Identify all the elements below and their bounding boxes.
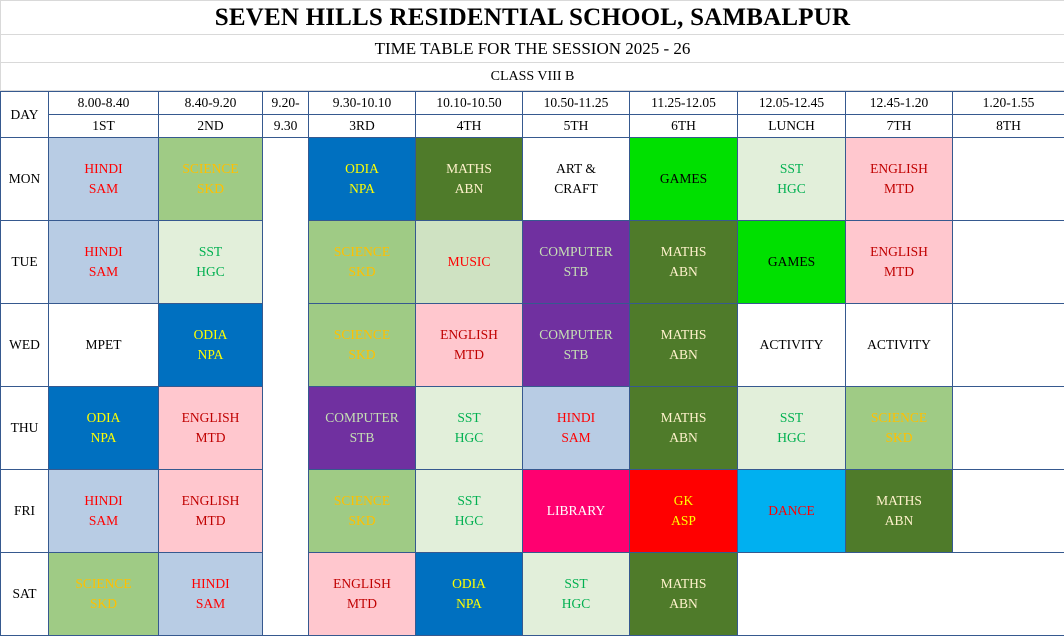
subject-name: HINDI [159,574,262,594]
title-block: SEVEN HILLS RESIDENTIAL SCHOOL, SAMBALPU… [0,0,1064,91]
subject-name: SCIENCE [309,325,415,345]
period-cell[interactable]: MUSIC [416,221,523,304]
period-cell[interactable]: MATHSABN [630,553,738,636]
subject-name: ODIA [309,159,415,179]
period-cell[interactable]: MATHSABN [630,304,738,387]
subject-name: MATHS [630,408,737,428]
teacher-code: NPA [159,345,262,365]
teacher-code: MTD [309,594,415,614]
subject-name: MATHS [630,574,737,594]
teacher-code: SKD [846,428,952,448]
subject-name: ART & [523,159,629,179]
subject-name: GK [630,491,737,511]
subject-name: SST [738,408,845,428]
subject-name: ODIA [416,574,522,594]
period-cell[interactable]: COMPUTERSTB [523,221,630,304]
column-header-period: LUNCH [738,115,846,138]
column-header-time: 8.40-9.20 [159,92,263,115]
column-header-time: 10.50-11.25 [523,92,630,115]
column-header-break-time: 9.30 [263,115,309,138]
period-cell[interactable]: ACTIVITY [738,304,846,387]
teacher-code: CRAFT [523,179,629,199]
teacher-code: ASP [630,511,737,531]
subject-name: SCIENCE [309,491,415,511]
period-cell[interactable]: HINDISAM [523,387,630,470]
subject-name: ODIA [49,408,158,428]
teacher-code: ABN [630,345,737,365]
column-header-period: 3RD [309,115,416,138]
session-subtitle: TIME TABLE FOR THE SESSION 2025 - 26 [1,35,1064,63]
column-header-period: 7TH [846,115,953,138]
teacher-code: NPA [309,179,415,199]
teacher-code: MTD [846,179,952,199]
period-cell[interactable]: SCIENCESKD [309,304,416,387]
teacher-code: SAM [523,428,629,448]
period-cell-empty[interactable] [953,387,1064,470]
teacher-code: SKD [309,511,415,531]
subject-name: ACTIVITY [846,335,952,355]
period-cell[interactable]: ENGLISHMTD [416,304,523,387]
table-row: SATSCIENCESKDHINDISAMENGLISHMTDODIANPASS… [1,553,1064,636]
teacher-code: MTD [159,428,262,448]
period-cell[interactable]: ENGLISHMTD [846,138,953,221]
column-header-time: 1.20-1.55 [953,92,1064,115]
teacher-code: NPA [416,594,522,614]
subject-name: ENGLISH [846,159,952,179]
period-cell[interactable]: ENGLISHMTD [309,553,416,636]
period-cell[interactable]: GAMES [738,221,846,304]
subject-name: SCIENCE [846,408,952,428]
subject-name: COMPUTER [523,242,629,262]
teacher-code: ABN [630,594,737,614]
period-cell[interactable]: ENGLISHMTD [846,221,953,304]
subject-name: HINDI [49,491,158,511]
day-label: FRI [1,470,49,553]
subject-name: ACTIVITY [738,335,845,355]
period-cell[interactable]: HINDISAM [159,553,263,636]
period-cell[interactable]: SCIENCESKD [309,470,416,553]
period-cell[interactable]: ODIANPA [49,387,159,470]
period-cell[interactable]: GAMES [630,138,738,221]
subject-name: ENGLISH [309,574,415,594]
day-label: SAT [1,553,49,636]
period-cell[interactable]: DANCE [738,470,846,553]
teacher-code: HGC [738,428,845,448]
teacher-code: MTD [846,262,952,282]
period-cell[interactable]: SSTHGC [738,138,846,221]
subject-name: SCIENCE [309,242,415,262]
timetable-grid: DAY8.00-8.408.40-9.209.20-9.30-10.1010.1… [0,91,1064,636]
period-cell[interactable]: MATHSABN [630,387,738,470]
period-cell[interactable]: GKASP [630,470,738,553]
period-cell[interactable]: COMPUTERSTB [309,387,416,470]
subject-name: ENGLISH [159,491,262,511]
teacher-code: HGC [159,262,262,282]
period-cell[interactable]: SCIENCESKD [309,221,416,304]
period-cell-empty[interactable] [953,470,1064,553]
subject-name: SCIENCE [159,159,262,179]
teacher-code: ABN [846,511,952,531]
period-cell[interactable]: MPET [49,304,159,387]
teacher-code: HGC [416,511,522,531]
column-header-day: DAY [1,92,49,138]
timetable-sheet: SEVEN HILLS RESIDENTIAL SCHOOL, SAMBALPU… [0,0,1064,618]
teacher-code: SAM [159,594,262,614]
subject-name: GAMES [738,252,845,272]
period-cell[interactable]: HINDISAM [49,470,159,553]
subject-name: ENGLISH [416,325,522,345]
subject-name: ENGLISH [159,408,262,428]
teacher-code: SAM [49,511,158,531]
subject-name: MPET [49,335,158,355]
period-cell[interactable]: ODIANPA [416,553,523,636]
period-cell[interactable]: SCIENCESKD [49,553,159,636]
teacher-code: SKD [49,594,158,614]
period-cell[interactable]: ODIANPA [309,138,416,221]
teacher-code: ABN [630,428,737,448]
teacher-code: HGC [738,179,845,199]
period-cell[interactable]: LIBRARY [523,470,630,553]
period-cell[interactable]: HINDISAM [49,138,159,221]
day-label: WED [1,304,49,387]
period-cell[interactable]: SSTHGC [738,387,846,470]
teacher-code: MTD [416,345,522,365]
subject-name: SST [416,491,522,511]
teacher-code: HGC [523,594,629,614]
subject-name: GAMES [630,169,737,189]
teacher-code: MTD [159,511,262,531]
period-cell[interactable]: ART &CRAFT [523,138,630,221]
column-header-break-time: 9.20- [263,92,309,115]
subject-name: COMPUTER [309,408,415,428]
period-cell[interactable]: ACTIVITY [846,304,953,387]
subject-name: LIBRARY [523,501,629,521]
teacher-code: HGC [416,428,522,448]
column-header-time: 12.45-1.20 [846,92,953,115]
break-column-cell [263,138,309,636]
subject-name: HINDI [49,242,158,262]
subject-name: MATHS [416,159,522,179]
teacher-code: STB [309,428,415,448]
subject-name: DANCE [738,501,845,521]
column-header-period: 4TH [416,115,523,138]
table-row: WEDMPETODIANPASCIENCESKDENGLISHMTDCOMPUT… [1,304,1064,387]
column-header-time: 10.10-10.50 [416,92,523,115]
day-label: THU [1,387,49,470]
column-header-time: 12.05-12.45 [738,92,846,115]
teacher-code: ABN [630,262,737,282]
column-header-period: 6TH [630,115,738,138]
subject-name: SST [416,408,522,428]
subject-name: MUSIC [416,252,522,272]
teacher-code: ABN [416,179,522,199]
period-cell[interactable]: MATHSABN [416,138,523,221]
teacher-code: SAM [49,179,158,199]
class-label: CLASS VIII B [1,63,1064,91]
subject-name: SST [523,574,629,594]
subject-name: MATHS [630,242,737,262]
table-row: MONHINDISAMSCIENCESKDODIANPAMATHSABNART … [1,138,1064,221]
period-cell[interactable]: HINDISAM [49,221,159,304]
column-header-time: 11.25-12.05 [630,92,738,115]
subject-name: HINDI [49,159,158,179]
subject-name: SST [159,242,262,262]
column-header-time: 9.30-10.10 [309,92,416,115]
column-header-time: 8.00-8.40 [49,92,159,115]
period-cell-empty[interactable] [953,304,1064,387]
subject-name: MATHS [846,491,952,511]
teacher-code: SKD [159,179,262,199]
period-cell-empty[interactable] [953,138,1064,221]
period-cell[interactable]: SCIENCESKD [159,138,263,221]
period-cell[interactable]: MATHSABN [846,470,953,553]
subject-name: SCIENCE [49,574,158,594]
subject-name: COMPUTER [523,325,629,345]
table-row: TUEHINDISAMSSTHGCSCIENCESKDMUSICCOMPUTER… [1,221,1064,304]
teacher-code: STB [523,345,629,365]
teacher-code: SKD [309,262,415,282]
period-cell[interactable]: SSTHGC [523,553,630,636]
table-row: THUODIANPAENGLISHMTDCOMPUTERSTBSSTHGCHIN… [1,387,1064,470]
subject-name: ENGLISH [846,242,952,262]
day-label: TUE [1,221,49,304]
column-header-period: 1ST [49,115,159,138]
period-cell-empty[interactable] [738,553,1064,636]
period-cell[interactable]: ENGLISHMTD [159,470,263,553]
period-cell[interactable]: ODIANPA [159,304,263,387]
period-cell[interactable]: SSTHGC [416,387,523,470]
column-header-period: 5TH [523,115,630,138]
teacher-code: SAM [49,262,158,282]
teacher-code: NPA [49,428,158,448]
day-label: MON [1,138,49,221]
column-header-period: 8TH [953,115,1064,138]
period-cell[interactable]: ENGLISHMTD [159,387,263,470]
teacher-code: SKD [309,345,415,365]
period-cell[interactable]: SCIENCESKD [846,387,953,470]
subject-name: MATHS [630,325,737,345]
subject-name: SST [738,159,845,179]
period-cell[interactable]: SSTHGC [416,470,523,553]
subject-name: ODIA [159,325,262,345]
school-title: SEVEN HILLS RESIDENTIAL SCHOOL, SAMBALPU… [1,1,1064,35]
subject-name: HINDI [523,408,629,428]
column-header-period: 2ND [159,115,263,138]
period-cell[interactable]: COMPUTERSTB [523,304,630,387]
teacher-code: STB [523,262,629,282]
table-row: FRIHINDISAMENGLISHMTDSCIENCESKDSSTHGCLIB… [1,470,1064,553]
period-cell[interactable]: MATHSABN [630,221,738,304]
period-cell[interactable]: SSTHGC [159,221,263,304]
period-cell-empty[interactable] [953,221,1064,304]
